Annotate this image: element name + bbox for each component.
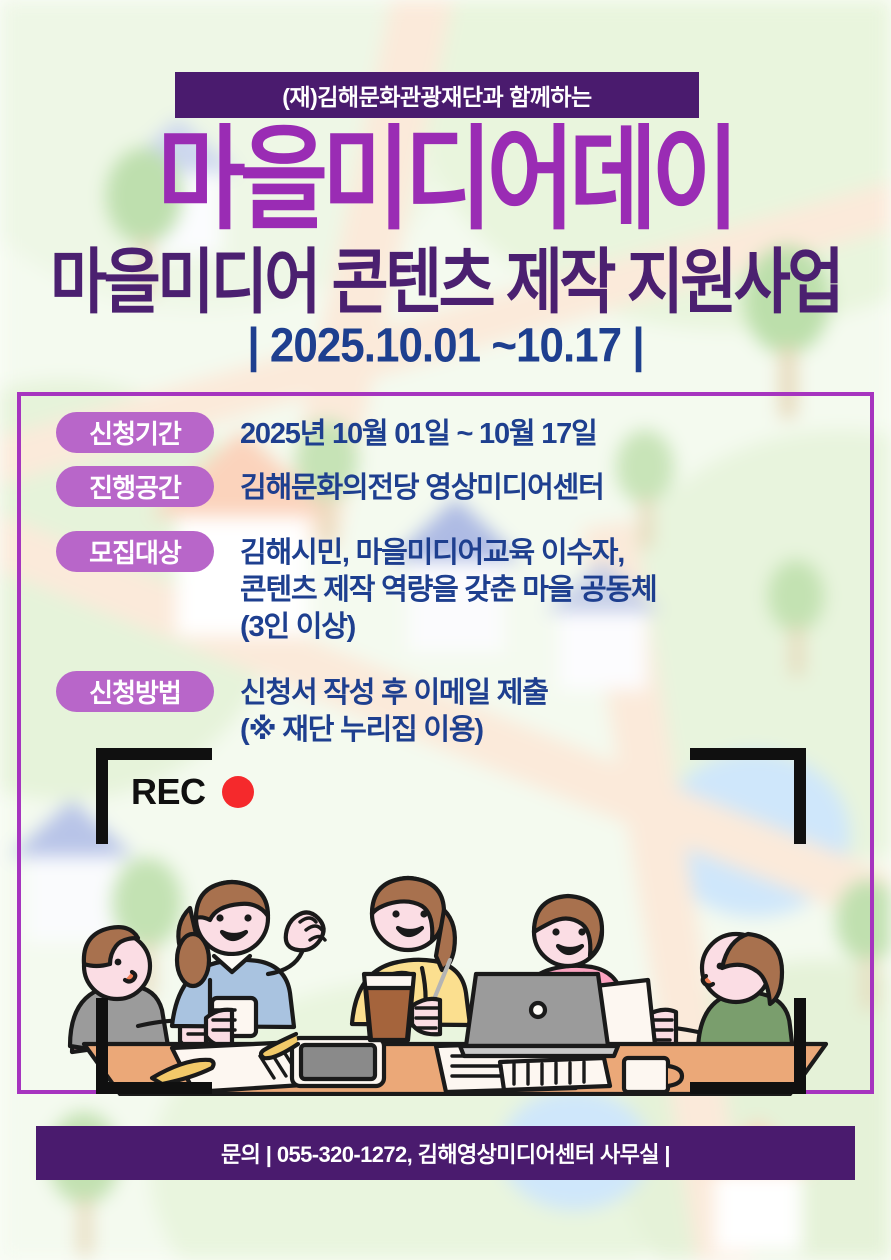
info-row-application-period: 신청기간 2025년 10월 01일 ~ 10월 17일 — [56, 412, 856, 453]
info-value: 김해문화의전당 영상미디어센터 — [240, 466, 604, 507]
info-value-line: 2025년 10월 01일 ~ 10월 17일 — [240, 416, 597, 453]
table-iced-drink — [364, 974, 414, 1040]
poster-main-title: 마을미디어데이 — [0, 124, 891, 237]
contact-footer-text: 문의 | 055-320-1272, 김해영상미디어센터 사무실 | — [221, 1137, 670, 1169]
info-value: 2025년 10월 01일 ~ 10월 17일 — [240, 412, 597, 453]
table-keyboard — [500, 1058, 610, 1090]
record-dot-icon — [222, 776, 254, 808]
info-value-line: (※ 재단 누리집 이용) — [240, 712, 548, 749]
contact-footer: 문의 | 055-320-1272, 김해영상미디어센터 사무실 | — [36, 1126, 855, 1180]
viewfinder-corner-top-right — [690, 748, 806, 760]
info-label-badge: 신청기간 — [56, 412, 214, 453]
info-label-badge: 모집대상 — [56, 531, 214, 572]
organizer-ribbon-text: (재)김해문화관광재단과 함께하는 — [282, 78, 591, 112]
rec-indicator: REC — [131, 771, 254, 813]
poster-subtitle: 마을미디어 콘텐츠 제작 지원사업 — [0, 248, 891, 319]
poster-date-line: | 2025.10.01 ~10.17 | — [0, 322, 891, 370]
organizer-ribbon: (재)김해문화관광재단과 함께하는 — [175, 72, 699, 118]
info-row-venue: 진행공간 김해문화의전당 영상미디어센터 — [56, 466, 856, 507]
viewfinder-corner-top-left — [96, 748, 212, 760]
poster-canvas: (재)김해문화관광재단과 함께하는 마을미디어데이 마을미디어 콘텐츠 제작 지… — [0, 0, 891, 1260]
meeting-illustration — [60, 856, 850, 1096]
person-blue — [172, 882, 325, 1046]
info-value-line: 콘텐츠 제작 역량을 갖춘 마을 공동체 — [240, 572, 657, 609]
table-laptop — [460, 974, 618, 1056]
viewfinder-corner-bottom-left — [96, 1082, 212, 1094]
rec-label-text: REC — [131, 771, 206, 813]
viewfinder-corner-bottom-right — [690, 1082, 806, 1094]
info-list: 신청기간 2025년 10월 01일 ~ 10월 17일 진행공간 김해문화의전… — [56, 412, 856, 762]
info-label-badge: 신청방법 — [56, 671, 214, 712]
info-value-line: (3인 이상) — [240, 609, 657, 646]
background-tree-trunk — [79, 1198, 91, 1256]
info-value-line: 김해시민, 마을미디어교육 이수자, — [240, 535, 657, 572]
background-house-body — [714, 1172, 802, 1252]
viewfinder-corner-bottom-right — [794, 998, 806, 1094]
info-value-line: 신청서 작성 후 이메일 제출 — [240, 675, 548, 712]
info-row-how-to-apply: 신청방법 신청서 작성 후 이메일 제출 (※ 재단 누리집 이용) — [56, 671, 856, 749]
info-value: 김해시민, 마을미디어교육 이수자, 콘텐츠 제작 역량을 갖춘 마을 공동체 … — [240, 531, 657, 646]
info-value: 신청서 작성 후 이메일 제출 (※ 재단 누리집 이용) — [240, 671, 548, 749]
info-label-badge: 진행공간 — [56, 466, 214, 507]
viewfinder-corner-top-left — [96, 748, 108, 844]
viewfinder-corner-bottom-left — [96, 998, 108, 1094]
viewfinder-corner-top-right — [794, 748, 806, 844]
info-row-eligibility: 모집대상 김해시민, 마을미디어교육 이수자, 콘텐츠 제작 역량을 갖춘 마을… — [56, 531, 856, 646]
info-value-line: 김해문화의전당 영상미디어센터 — [240, 470, 604, 507]
